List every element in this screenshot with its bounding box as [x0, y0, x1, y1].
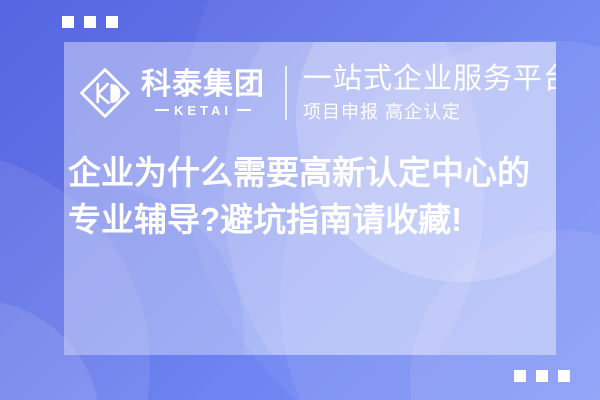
content-card: 科泰集团 KETAI 一站式企业服务平台 项目申报 高企认定 企业为什么需要高新…	[64, 42, 556, 355]
square-dot-icon	[536, 370, 548, 382]
brand-name-en-row: KETAI	[155, 104, 251, 117]
logo-d-shape	[110, 84, 120, 103]
logo-rule-left	[155, 109, 169, 112]
brand-logo: 科泰集团 KETAI	[78, 66, 265, 120]
brand-header: 科泰集团 KETAI 一站式企业服务平台 项目申报 高企认定	[78, 54, 556, 132]
ketai-diamond-kd-monogram-icon	[78, 66, 132, 120]
header-divider	[285, 66, 287, 120]
brand-name-cn: 科泰集团	[141, 70, 265, 100]
decorative-dots-bottom-right	[514, 370, 570, 382]
promo-poster: 科泰集团 KETAI 一站式企业服务平台 项目申报 高企认定 企业为什么需要高新…	[0, 0, 600, 400]
square-dot-icon	[62, 16, 74, 28]
brand-name-en: KETAI	[174, 104, 232, 117]
brand-wordmark: 科泰集团 KETAI	[141, 70, 265, 117]
square-dot-icon	[514, 370, 526, 382]
square-dot-icon	[558, 370, 570, 382]
decorative-dots-top-left	[62, 16, 118, 28]
page-title: 企业为什么需要高新认定中心的专业辅导?避坑指南请收藏!	[68, 150, 550, 244]
square-dot-icon	[106, 16, 118, 28]
slogan-sub: 项目申报 高企认定	[303, 102, 556, 123]
slogan-block: 一站式企业服务平台 项目申报 高企认定	[303, 63, 556, 123]
square-dot-icon	[84, 16, 96, 28]
slogan-main: 一站式企业服务平台	[303, 63, 556, 96]
logo-rule-right	[237, 109, 251, 112]
